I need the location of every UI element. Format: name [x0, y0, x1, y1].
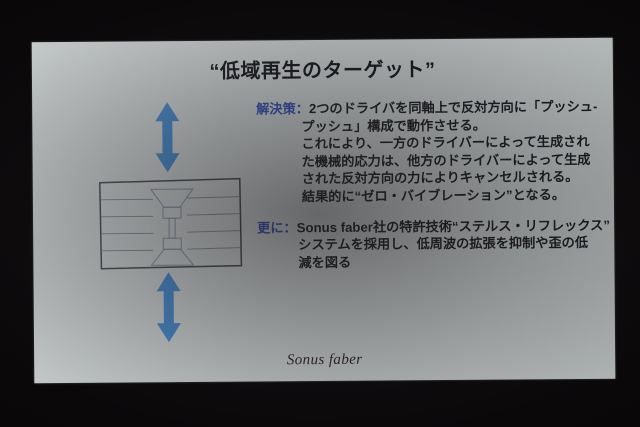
push-push-driver-diagram	[70, 98, 267, 345]
paragraph-separator: ：	[283, 220, 296, 235]
paragraph-lead-label: 更に	[257, 220, 283, 235]
paragraph-solution: 解決策：2つのドライバを同軸上で反対方向に「プッシュ- プッシュ」構成で動作させ…	[256, 98, 605, 206]
paragraph-line: 減を図る	[257, 252, 605, 272]
paragraph-additional: 更に：Sonus faber社の特許技術“ステルス・リフレックス” システムを採…	[257, 216, 605, 272]
brand-wordmark: Sonus faber	[34, 350, 615, 372]
paragraph-lead-label: 解決策	[256, 101, 296, 116]
speaker-cabinet-icon	[97, 175, 244, 271]
paragraph-separator: ：	[296, 101, 309, 116]
page-title: “低域再生のターゲット”	[32, 52, 613, 86]
up-down-arrow-icon	[154, 271, 183, 343]
paragraph-line: 2つのドライバを同軸上で反対方向に「プッシュ-	[309, 99, 598, 116]
slide-body-text: 解決策：2つのドライバを同軸上で反対方向に「プッシュ- プッシュ」構成で動作させ…	[256, 98, 605, 285]
paragraph-line: Sonus faber社の特許技術“ステルス・リフレックス”	[297, 217, 610, 234]
paragraph-line: 結果的に“ゼロ・バイブレーション”となる。	[257, 186, 605, 206]
paragraph-line: システムを採用し、低周波の拡張を抑制や歪の低	[257, 234, 605, 254]
up-down-arrow-icon	[153, 101, 182, 173]
projected-slide-photo: “低域再生のターゲット”	[0, 0, 640, 427]
presentation-slide: “低域再生のターゲット”	[32, 38, 616, 384]
